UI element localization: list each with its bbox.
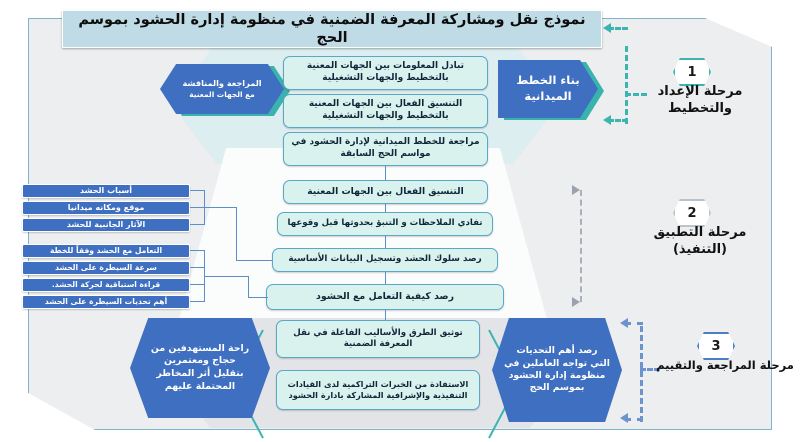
stage1-dashed-vertical: [625, 46, 628, 124]
diagram-canvas: نموذج نقل ومشاركة المعرفة الضمنية في منظ…: [0, 0, 800, 442]
stage-3-number: 3: [697, 332, 735, 360]
stage2-arrow-top: [572, 185, 580, 195]
stage-2-label: مرحلة التطبيق (التنفيذ): [645, 225, 755, 259]
stage2-box-1[interactable]: التنسيق الفعال بين الجهات المعنية: [283, 180, 488, 204]
stage1-box-2[interactable]: التنسيق الفعال بين الجهات المعنية بالتخط…: [283, 94, 488, 128]
group-b-drop: [248, 276, 249, 297]
stage3-right-hexagon[interactable]: رصد أهم التحديات التي تواجه العاملين في …: [492, 318, 622, 422]
stage2-box-3[interactable]: رصد سلوك الحشد وتسجيل البيانات الأساسية: [272, 248, 498, 272]
group-b-stub-3: [190, 284, 204, 285]
stage1-dashed-to-label: [625, 93, 647, 96]
stage2-box-2[interactable]: تفادي الملاحظات و التنبؤ بحدوثها قبل وقو…: [277, 212, 493, 236]
group-b-to-box4: [248, 297, 268, 298]
stage1-right-hexagon-line1: بناء الخطط: [516, 73, 579, 87]
stage-3-label: مرحلة المراجعة والتقييم: [655, 358, 795, 373]
stage3-left-hexagon-line3: بتقليل أثر المخاطر: [156, 368, 243, 379]
stage1-box-3[interactable]: مراجعة للخطط الميدانية لإدارة الحشود في …: [283, 132, 488, 166]
stage-1-label-line1: مرحلة الإعداد: [658, 84, 743, 99]
group-a-trunk: [204, 207, 236, 208]
stage3-left-hexagon-line2: حجاج ومعتمرين: [164, 355, 236, 366]
stage2-arrow-bottom: [572, 297, 580, 307]
stage-2-number: 2: [673, 199, 711, 227]
stage-1-label-line2: والتخطيط: [668, 101, 732, 116]
stage-1-label: مرحلة الإعداد والتخطيط: [645, 84, 755, 118]
group-b-stub-4: [190, 301, 204, 302]
stage1-left-hexagon-line2: مع الجهات المعنية: [189, 90, 254, 99]
group-b-stub-2: [190, 267, 204, 268]
stage2-side-dashed: [580, 190, 582, 302]
stage3-right-hexagon-line4: بموسم الحج: [530, 382, 585, 393]
stage2-spine-1: [385, 204, 386, 212]
stage3-dashed-top: [625, 322, 643, 325]
stage2-group-b-item-4[interactable]: أهم تحديات السيطرة على الحشد: [22, 295, 190, 309]
stage3-right-hexagon-line2: التي تواجه العاملين في: [504, 358, 610, 369]
stage1-dashed-bottom: [608, 119, 628, 122]
group-b-stub-1: [190, 250, 204, 251]
stage3-box-2[interactable]: الاستفادة من الخبرات التراكمية لدى القيا…: [276, 370, 480, 410]
stage2-group-a-item-3[interactable]: الآثار الجانبية للحشد: [22, 218, 190, 232]
stage1-box-1[interactable]: تبادل المعلومات بين الجهات المعنية بالتخ…: [283, 56, 488, 90]
stage3-right-hexagon-line1: رصد أهم التحديات: [517, 345, 598, 356]
stage3-left-hexagon-line1: راحة المستهدفين من: [151, 343, 249, 354]
stage2-spine-2: [385, 236, 386, 248]
stage-2-label-line2: (التنفيذ): [673, 242, 727, 257]
stage3-right-hexagon-line3: منظومة إدارة الحشود: [509, 370, 606, 381]
stage2-spine-3: [385, 272, 386, 284]
group-a-stub-2: [190, 207, 204, 208]
stage1-dashed-top: [608, 27, 628, 30]
stage3-left-hexagon[interactable]: راحة المستهدفين من حجاج ومعتمرين بتقليل …: [130, 318, 270, 418]
group-a-to-box3: [236, 260, 272, 261]
stage2-spine-0: [385, 166, 386, 180]
group-a-drop: [236, 207, 237, 260]
stage3-dashed-bottom: [625, 418, 643, 421]
stage2-group-b-item-1[interactable]: التعامل مع الحشد وفقاً للخطة: [22, 244, 190, 258]
group-a-stub-1: [190, 190, 204, 191]
group-a-stub-3: [190, 224, 204, 225]
stage2-group-b-item-3[interactable]: قراءة استباقية لحركة الحشد.: [22, 278, 190, 292]
stage2-group-a-item-1[interactable]: أسباب الحشد: [22, 184, 190, 198]
stage-2-label-line1: مرحلة التطبيق: [654, 225, 747, 240]
stage2-group-b-item-2[interactable]: سرعة السيطرة على الحشد: [22, 261, 190, 275]
stage1-left-hexagon[interactable]: المراجعة والمناقشة مع الجهات المعنية: [160, 64, 284, 114]
stage1-right-hexagon[interactable]: بناء الخطط الميدانية: [498, 60, 598, 118]
stage2-box-4[interactable]: رصد كيفية التعامل مع الحشود: [266, 284, 504, 310]
page-title: نموذج نقل ومشاركة المعرفة الضمنية في منظ…: [62, 10, 602, 48]
stage1-left-hexagon-line1: المراجعة والمناقشة: [182, 78, 261, 88]
stage2-group-a-item-2[interactable]: موقع ومكانه ميدانيا: [22, 201, 190, 215]
stage1-right-hexagon-line2: الميدانية: [524, 89, 571, 103]
stage3-dashed-vertical: [640, 326, 643, 422]
stage3-left-hexagon-line4: المحتملة عليهم: [165, 381, 235, 392]
stage3-box-1[interactable]: توثيق الطرق والأساليب الفاعلة في نقل الم…: [276, 320, 480, 358]
stage-1-number: 1: [673, 58, 711, 86]
group-b-trunk: [204, 276, 248, 277]
